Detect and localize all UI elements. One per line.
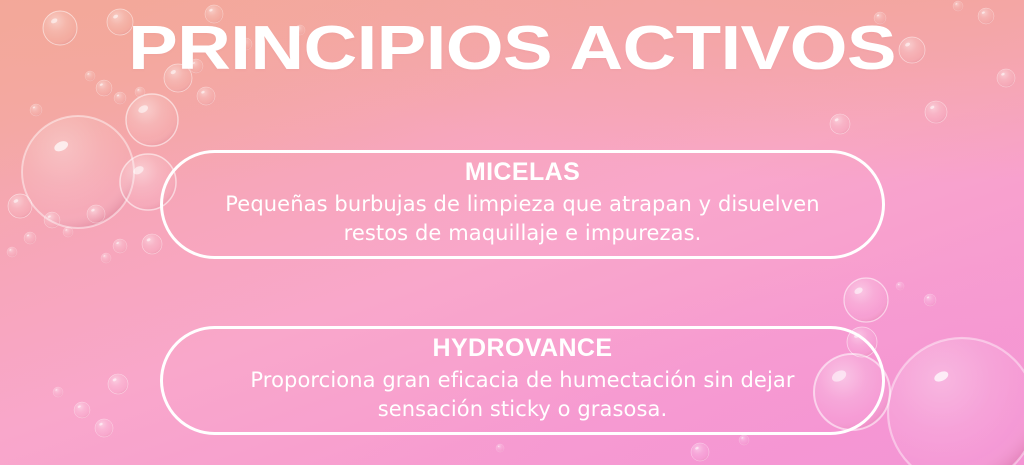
card-micelas: MICELAS Pequeñas burbujas de limpieza qu… (160, 150, 885, 259)
card-micelas-line-1: Pequeñas burbujas de limpieza que atrapa… (225, 190, 819, 219)
card-micelas-line-2: restos de maquillaje e impurezas. (225, 219, 819, 248)
card-hydrovance-body: Proporciona gran eficacia de humectación… (250, 366, 794, 424)
poster-canvas: PRINCIPIOS ACTIVOS MICELAS Pequeñas burb… (0, 0, 1024, 465)
card-hydrovance-line-2: sensación sticky o grasosa. (250, 395, 794, 424)
card-micelas-title: MICELAS (465, 157, 580, 187)
page-title: PRINCIPIOS ACTIVOS (0, 18, 1024, 80)
card-micelas-body: Pequeñas burbujas de limpieza que atrapa… (225, 190, 819, 248)
card-hydrovance-line-1: Proporciona gran eficacia de humectación… (250, 366, 794, 395)
card-hydrovance: HYDROVANCE Proporciona gran eficacia de … (160, 326, 885, 435)
poster-content: PRINCIPIOS ACTIVOS MICELAS Pequeñas burb… (0, 0, 1024, 465)
card-hydrovance-title: HYDROVANCE (433, 333, 613, 363)
